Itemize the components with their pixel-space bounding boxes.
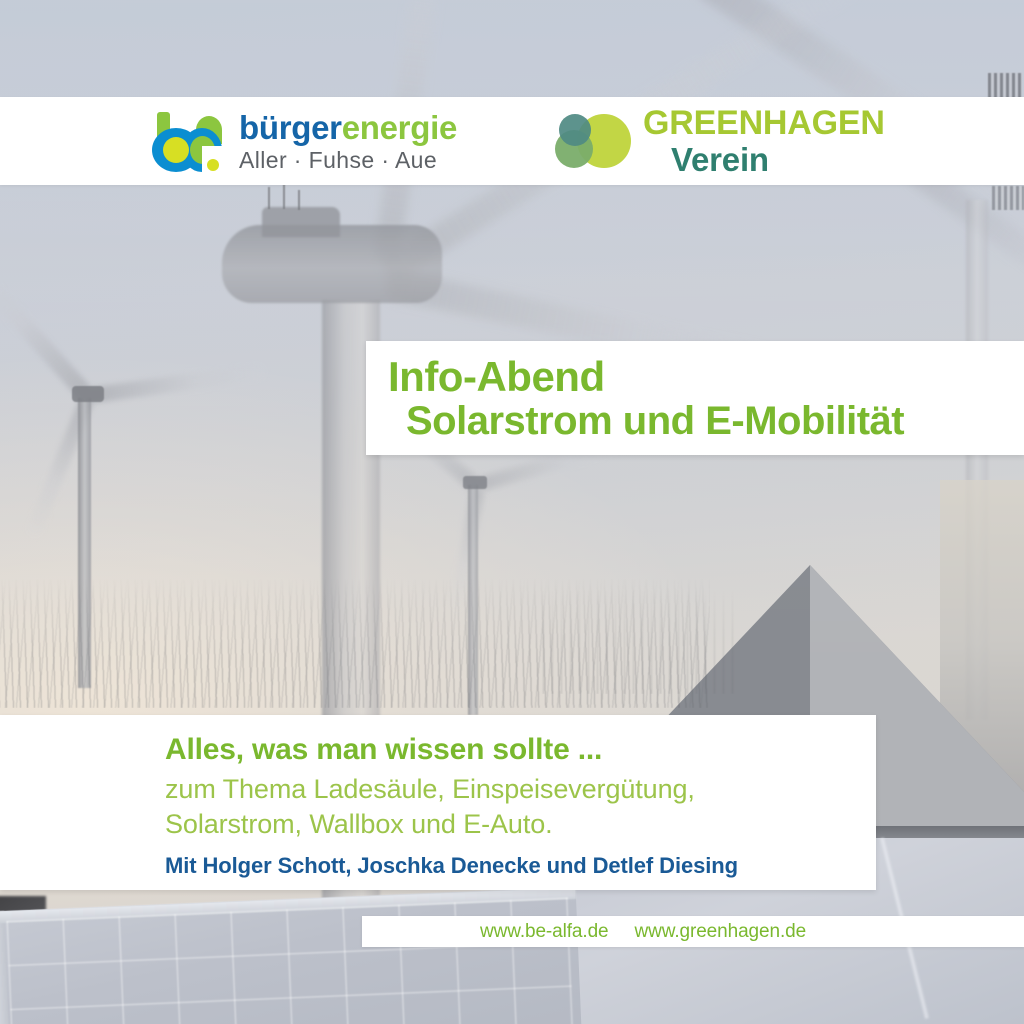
solar-panel bbox=[0, 887, 584, 1024]
nacelle-mast-1 bbox=[268, 187, 270, 209]
website-link-be-alfa[interactable]: www.be-alfa.de bbox=[480, 921, 609, 943]
nacelle-mast-2 bbox=[283, 183, 285, 209]
buergerenergie-word-part1: bürger bbox=[239, 109, 342, 146]
description-subline-2: Solarstrom, Wallbox und E-Auto. bbox=[165, 807, 876, 842]
logo-header-band: bürgerenergie Aller · Fuhse · Aue GREENH… bbox=[0, 97, 1024, 185]
buergerenergie-word-part2: energie bbox=[342, 109, 457, 146]
three-overlapping-circles-icon bbox=[555, 110, 631, 172]
buergerenergie-logo: bürgerenergie Aller · Fuhse · Aue bbox=[152, 110, 457, 172]
event-poster: bürgerenergie Aller · Fuhse · Aue GREENH… bbox=[0, 0, 1024, 1024]
nacelle-mast-3 bbox=[298, 190, 300, 210]
greenhagen-subtitle: Verein bbox=[671, 143, 885, 176]
page-title: Info-Abend bbox=[388, 355, 1024, 399]
left-turbine-nacelle bbox=[72, 386, 104, 402]
buergerenergie-wordmark: bürgerenergie Aller · Fuhse · Aue bbox=[239, 111, 457, 172]
description-headline: Alles, was man wissen sollte ... bbox=[165, 733, 876, 766]
main-turbine-nacelle-top bbox=[262, 207, 340, 237]
treeline-near bbox=[0, 578, 710, 708]
right-turbine-nacelle bbox=[463, 476, 487, 489]
website-link-greenhagen[interactable]: www.greenhagen.de bbox=[635, 921, 807, 943]
greenhagen-wordmark: GREENHAGEN Verein bbox=[643, 106, 885, 176]
page-subtitle: Solarstrom und E-Mobilität bbox=[406, 399, 1024, 444]
title-band: Info-Abend Solarstrom und E-Mobilität bbox=[366, 341, 1024, 455]
website-footer-band: www.be-alfa.de www.greenhagen.de bbox=[362, 916, 1024, 947]
description-subline-1: zum Thema Ladesäule, Einspeisevergütung, bbox=[165, 772, 876, 807]
greenhagen-name: GREENHAGEN bbox=[643, 106, 885, 140]
be-monogram-icon bbox=[152, 110, 230, 172]
speakers-line: Mit Holger Schott, Joschka Denecke und D… bbox=[165, 853, 876, 879]
lattice-tower-top-right-lower-icon bbox=[992, 186, 1024, 210]
description-band: Alles, was man wissen sollte ... zum The… bbox=[0, 715, 876, 890]
greenhagen-logo: GREENHAGEN Verein bbox=[555, 106, 885, 176]
buergerenergie-tagline: Aller · Fuhse · Aue bbox=[239, 149, 457, 172]
